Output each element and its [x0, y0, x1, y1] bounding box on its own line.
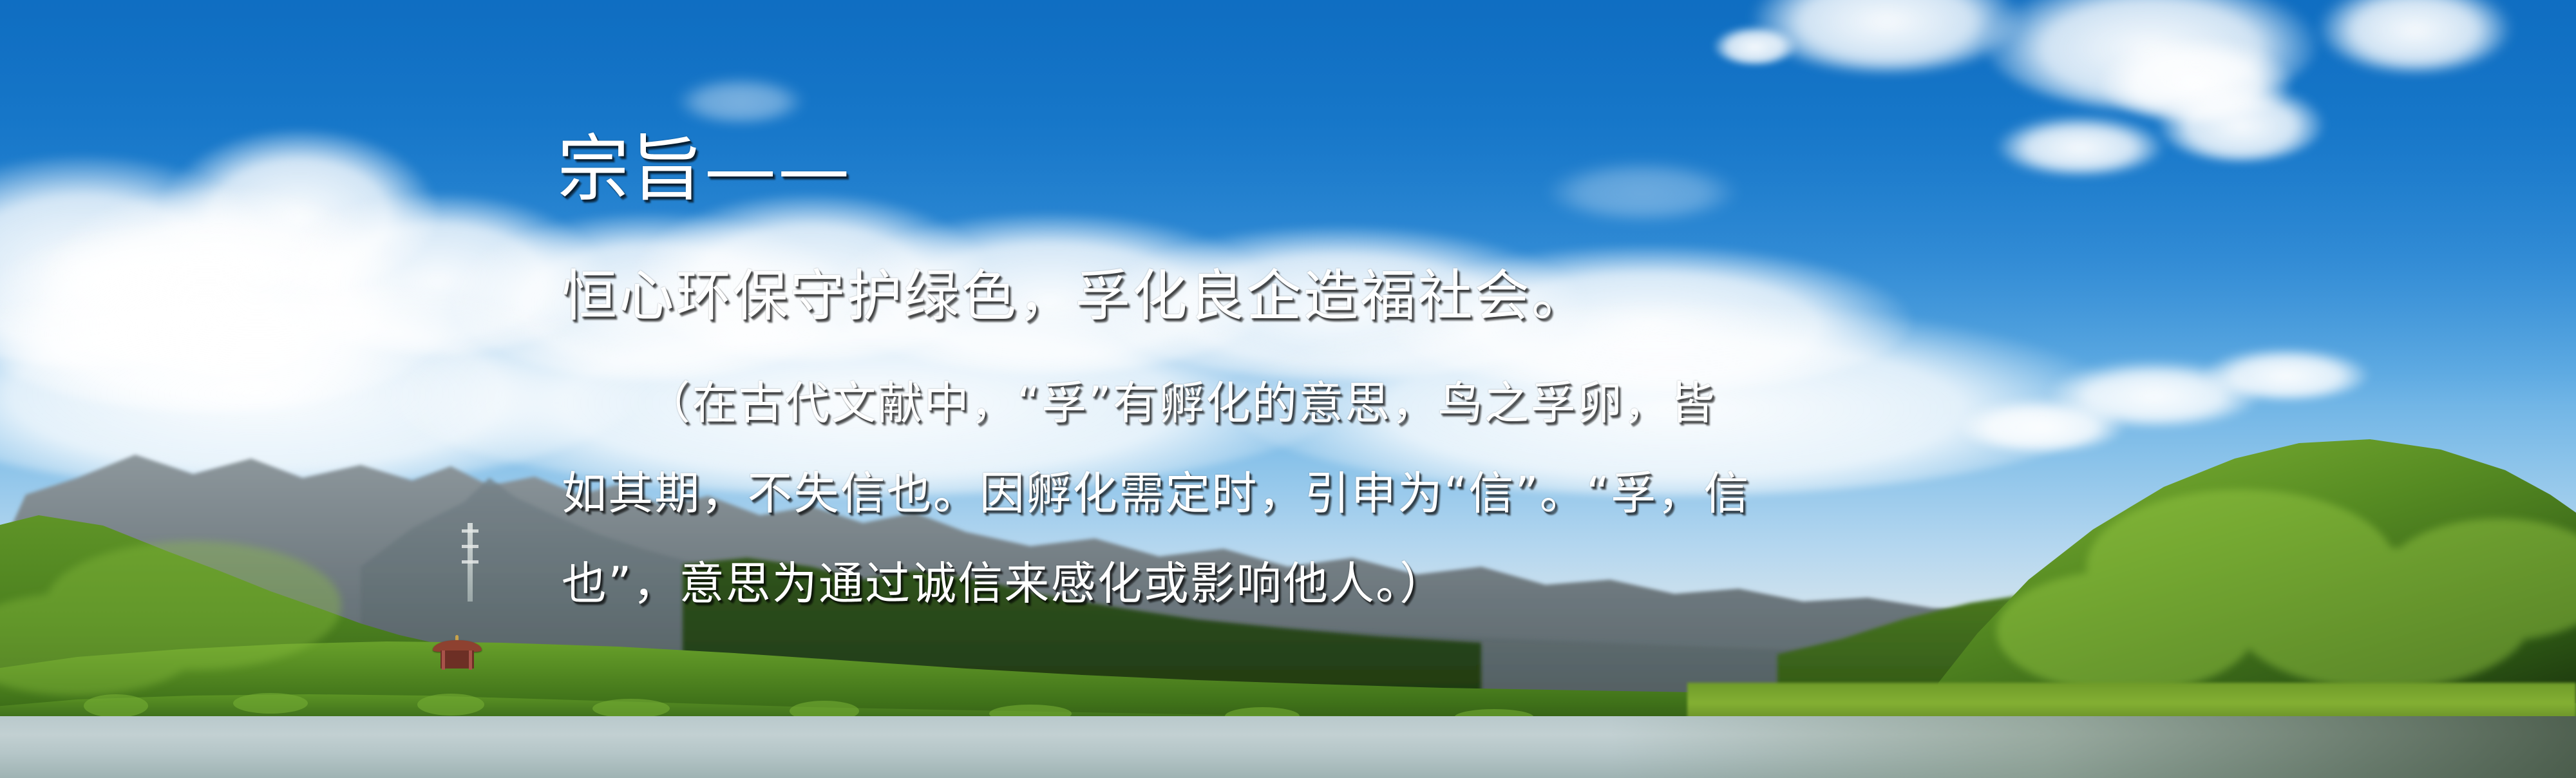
banner-slogan: 恒心环保守护绿色，孚化良企造福社会。 — [562, 267, 1588, 325]
banner-title: 宗旨—— — [557, 132, 851, 208]
banner-note-line-1: （在古代文献中，“孚”有孵化的意思，鸟之孚卵，皆 — [645, 380, 1716, 428]
banner-note-line-3: 也”，意思为通过诚信来感化或影响他人。） — [562, 560, 1446, 608]
text-overlay: 宗旨—— 恒心环保守护绿色，孚化良企造福社会。 （在古代文献中，“孚”有孵化的意… — [0, 0, 2576, 778]
banner-note-line-2: 如其期，不失信也。因孵化需定时，引申为“信”。“孚，信 — [562, 470, 1750, 518]
scenic-banner: 宗旨—— 恒心环保守护绿色，孚化良企造福社会。 （在古代文献中，“孚”有孵化的意… — [0, 0, 2576, 778]
